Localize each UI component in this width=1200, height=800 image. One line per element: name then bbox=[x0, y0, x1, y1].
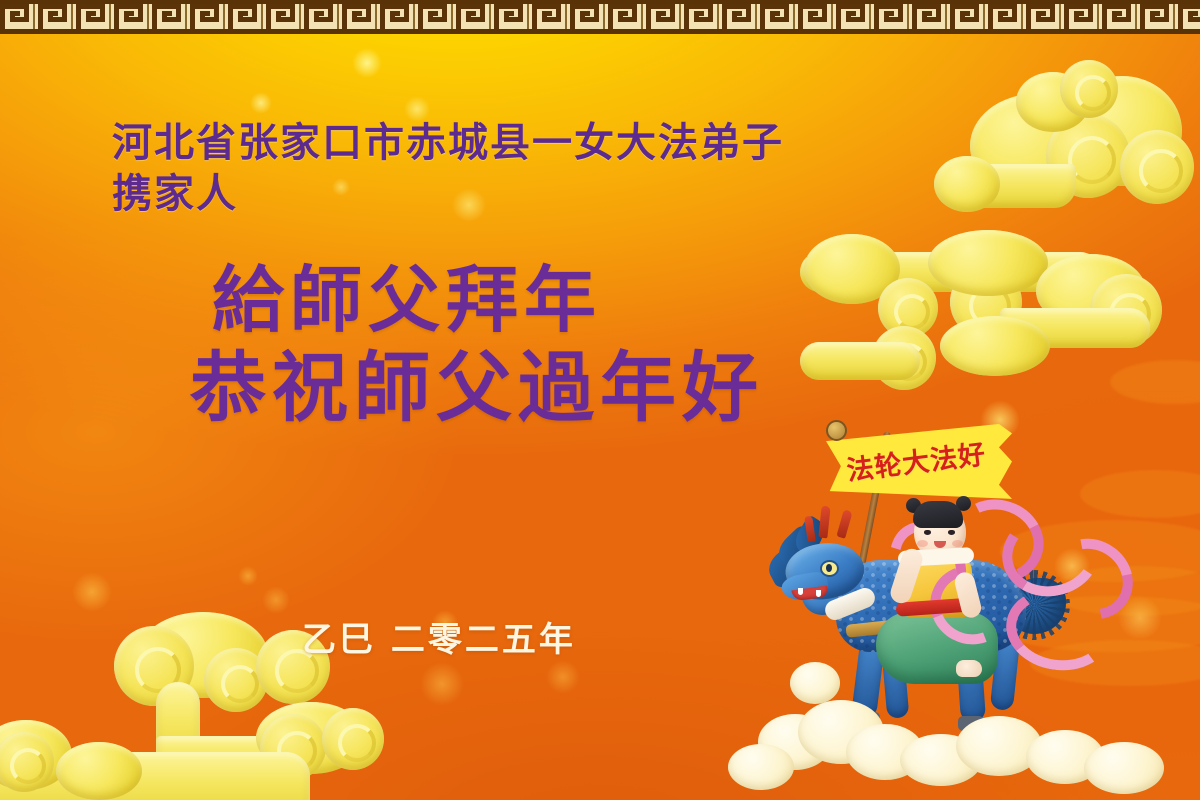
child-eye bbox=[948, 530, 955, 535]
meander-unit bbox=[342, 4, 380, 29]
child-cheek bbox=[952, 540, 963, 547]
meander-unit bbox=[38, 4, 76, 29]
dragon-tooth bbox=[816, 590, 821, 597]
meander-unit bbox=[456, 4, 494, 29]
dragon-eye bbox=[820, 560, 839, 577]
meander-unit bbox=[1178, 4, 1200, 29]
meander-unit bbox=[722, 4, 760, 29]
meander-unit bbox=[912, 4, 950, 29]
meander-unit bbox=[266, 4, 304, 29]
meander-unit bbox=[950, 4, 988, 29]
meander-unit bbox=[418, 4, 456, 29]
meander-unit bbox=[76, 4, 114, 29]
meander-unit bbox=[1026, 4, 1064, 29]
greek-key-meander-border bbox=[0, 0, 1200, 34]
child-cheek bbox=[917, 540, 928, 547]
meander-unit bbox=[836, 4, 874, 29]
sender-line-1: 河北省张家口市赤城县一女大法弟子 bbox=[112, 118, 1012, 169]
meander-unit bbox=[988, 4, 1026, 29]
meander-unit bbox=[152, 4, 190, 29]
sender-line-2: 携家人 bbox=[112, 169, 1012, 220]
greeting-line-1: 給師父拜年 bbox=[190, 262, 764, 340]
meander-unit bbox=[228, 4, 266, 29]
meander-unit bbox=[494, 4, 532, 29]
meander-unit bbox=[608, 4, 646, 29]
meander-unit bbox=[1102, 4, 1140, 29]
meander-unit bbox=[570, 4, 608, 29]
greeting-card: 河北省张家口市赤城县一女大法弟子 携家人 給師父拜年 恭祝師父過年好 乙巳 二零… bbox=[0, 0, 1200, 800]
meander-unit bbox=[0, 4, 38, 29]
meander-unit bbox=[304, 4, 342, 29]
auspicious-cloud-bottom-left-lower bbox=[0, 700, 320, 800]
meander-unit bbox=[1140, 4, 1178, 29]
meander-unit bbox=[798, 4, 836, 29]
greeting-text: 給師父拜年 恭祝師父過年好 bbox=[190, 262, 764, 429]
child-foot bbox=[956, 660, 982, 677]
meander-unit bbox=[760, 4, 798, 29]
banner-pole-knob-icon bbox=[826, 420, 847, 441]
sender-text: 河北省张家口市赤城县一女大法弟子 携家人 bbox=[112, 118, 1012, 220]
greeting-line-2: 恭祝師父過年好 bbox=[190, 346, 764, 430]
meander-unit bbox=[1064, 4, 1102, 29]
date-stamp: 乙巳 二零二五年 bbox=[302, 612, 576, 661]
meander-unit bbox=[646, 4, 684, 29]
ground-cloud bbox=[790, 662, 840, 704]
meander-unit bbox=[532, 4, 570, 29]
meander-unit bbox=[380, 4, 418, 29]
child-hair bbox=[913, 501, 963, 528]
dragon-tooth bbox=[798, 588, 803, 595]
child-eye bbox=[924, 530, 931, 535]
meander-unit bbox=[114, 4, 152, 29]
meander-unit bbox=[874, 4, 912, 29]
ground-cloud bbox=[1084, 742, 1164, 794]
meander-unit bbox=[190, 4, 228, 29]
meander-unit bbox=[684, 4, 722, 29]
ground-cloud bbox=[728, 744, 794, 790]
auspicious-cloud-small-top-right bbox=[1016, 52, 1166, 142]
